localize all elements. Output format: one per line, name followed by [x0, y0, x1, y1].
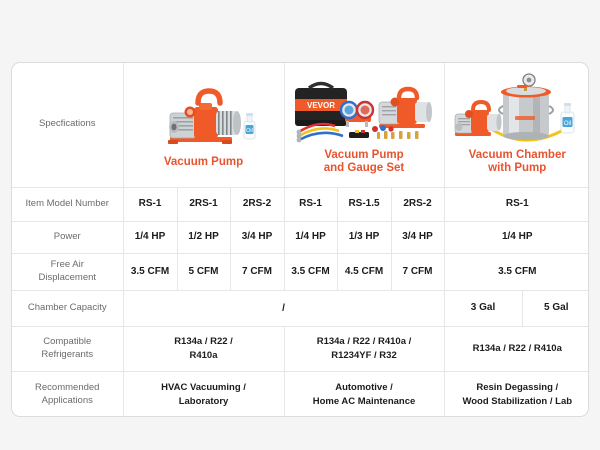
row-label-free-air-displacement: Free Air Displacement	[12, 253, 123, 290]
row-label-compatible-refrigerants: Compatible Refrigerants	[12, 326, 123, 371]
cell-applications-3: Resin Degassing / Wood Stabilization / L…	[444, 371, 589, 417]
cell-cfm-1: 3.5 CFM	[123, 253, 177, 290]
table-row-compatible-refrigerants: Compatible Refrigerants R134a / R22 / R4…	[12, 326, 589, 371]
table-row-item-model-number: Item Model Number RS-1 2RS-1 2RS-2 RS-1 …	[12, 187, 589, 221]
row-label-line: Refrigerants	[15, 349, 120, 362]
cell-power-7: 1/4 HP	[444, 221, 589, 253]
table-row-power: Power 1/4 HP 1/2 HP 3/4 HP 1/4 HP 1/3 HP…	[12, 221, 589, 253]
cell-model-5: RS-1.5	[337, 187, 391, 221]
product-title-vacuum-pump: Vacuum Pump	[128, 156, 280, 169]
cell-line: R1234YF / R32	[288, 349, 441, 362]
product-title-vacuum-pump-and-gauge-set: Vacuum Pump and Gauge Set	[289, 149, 440, 175]
cell-cfm-7: 3.5 CFM	[444, 253, 589, 290]
table-header-row: Specfications	[12, 63, 589, 187]
cell-power-5: 1/3 HP	[337, 221, 391, 253]
table-row-free-air-displacement: Free Air Displacement 3.5 CFM 5 CFM 7 CF…	[12, 253, 589, 290]
svg-text:Oil: Oil	[563, 121, 570, 127]
cell-applications-2: Automotive / Home AC Maintenance	[284, 371, 444, 417]
cell-power-4: 1/4 HP	[284, 221, 337, 253]
cell-cfm-5: 4.5 CFM	[337, 253, 391, 290]
vacuum-pump-image: Oil	[128, 79, 280, 153]
row-label-recommended-applications: Recommended Applications	[12, 371, 123, 417]
cell-model-3: 2RS-2	[230, 187, 284, 221]
cell-refrigerants-1: R134a / R22 / R410a	[123, 326, 284, 371]
row-label-line: Recommended	[15, 382, 120, 395]
cell-power-6: 3/4 HP	[391, 221, 444, 253]
row-label-power: Power	[12, 221, 123, 253]
table-row-recommended-applications: Recommended Applications HVAC Vacuuming …	[12, 371, 589, 417]
cell-model-6: 2RS-2	[391, 187, 444, 221]
product-title-line: with Pump	[449, 162, 587, 175]
cell-line: R134a / R22 / R410a	[448, 342, 588, 355]
specifications-corner-label: Specfications	[12, 63, 123, 187]
cell-line: R134a / R22 / R410a /	[288, 335, 441, 348]
product-title-line: Vacuum Pump	[289, 149, 440, 162]
row-label-line: Displacement	[15, 272, 120, 285]
cell-power-3: 3/4 HP	[230, 221, 284, 253]
cell-model-7: RS-1	[444, 187, 589, 221]
cell-line: HVAC Vacuuming /	[127, 381, 281, 394]
cell-cfm-6: 7 CFM	[391, 253, 444, 290]
cell-line: R410a	[127, 349, 281, 362]
cell-refrigerants-2: R134a / R22 / R410a / R1234YF / R32	[284, 326, 444, 371]
cell-model-2: 2RS-1	[177, 187, 230, 221]
svg-text:Oil: Oil	[246, 128, 253, 134]
comparison-table-grid: Specfications	[12, 63, 589, 417]
svg-text:VEVOR: VEVOR	[307, 101, 335, 110]
cell-refrigerants-3: R134a / R22 / R410a	[444, 326, 589, 371]
row-label-line: Compatible	[15, 336, 120, 349]
product-header-vacuum-chamber-with-pump[interactable]: Oil Vacuum Chamber with Pump	[444, 63, 589, 187]
product-comparison-table: Specfications	[11, 62, 589, 417]
table-row-chamber-capacity: Chamber Capacity / 3 Gal 5 Gal	[12, 290, 589, 326]
vacuum-pump-and-gauge-set-image: VEVOR	[289, 72, 440, 146]
cell-line: Laboratory	[127, 395, 281, 408]
cell-line: Wood Stabilization / Lab	[448, 395, 588, 408]
cell-line: Resin Degassing /	[448, 381, 588, 394]
product-header-vacuum-pump-and-gauge-set[interactable]: VEVOR	[284, 63, 444, 187]
product-title-line: Vacuum Pump	[164, 156, 243, 168]
row-label-chamber-capacity: Chamber Capacity	[12, 290, 123, 326]
row-label-line: Free Air	[15, 259, 120, 272]
vacuum-chamber-with-pump-image: Oil	[449, 72, 587, 146]
cell-cfm-2: 5 CFM	[177, 253, 230, 290]
cell-power-2: 1/2 HP	[177, 221, 230, 253]
cell-power-1: 1/4 HP	[123, 221, 177, 253]
cell-applications-1: HVAC Vacuuming / Laboratory	[123, 371, 284, 417]
cell-cfm-4: 3.5 CFM	[284, 253, 337, 290]
product-title-vacuum-chamber-with-pump: Vacuum Chamber with Pump	[449, 149, 587, 175]
product-header-vacuum-pump[interactable]: Oil Vacuum Pump	[123, 63, 284, 187]
cell-capacity-3gal: 3 Gal	[444, 290, 522, 326]
product-title-line: Vacuum Chamber	[449, 149, 587, 162]
cell-model-1: RS-1	[123, 187, 177, 221]
cell-capacity-5gal: 5 Gal	[522, 290, 589, 326]
cell-line: Home AC Maintenance	[288, 395, 441, 408]
row-label-line: Applications	[15, 395, 120, 408]
cell-cfm-3: 7 CFM	[230, 253, 284, 290]
cell-capacity-none: /	[123, 290, 444, 326]
product-title-line: and Gauge Set	[289, 162, 440, 175]
row-label-item-model-number: Item Model Number	[12, 187, 123, 221]
cell-line: R134a / R22 /	[127, 335, 281, 348]
cell-line: Automotive /	[288, 381, 441, 394]
cell-model-4: RS-1	[284, 187, 337, 221]
